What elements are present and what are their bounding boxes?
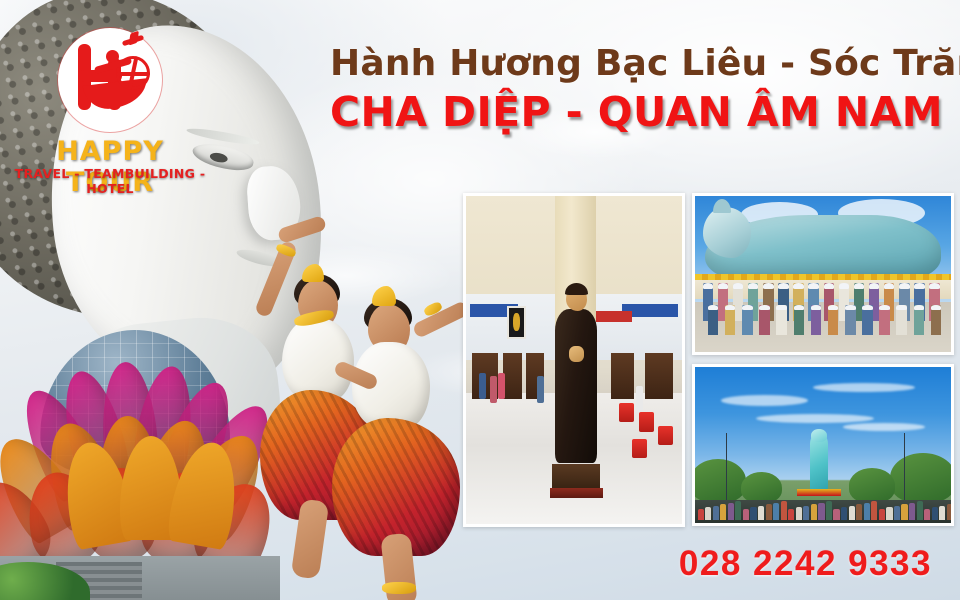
tour-member [725, 305, 735, 335]
pilgrim [788, 509, 794, 520]
tour-member [742, 305, 752, 335]
statue-base [797, 489, 841, 497]
pilgrim [894, 506, 900, 520]
white-cap [703, 283, 713, 289]
tour-member [862, 305, 872, 335]
pilgrim [720, 504, 726, 520]
lamp-post [726, 433, 727, 502]
tour-member [879, 305, 889, 335]
happy-tour-logo[interactable]: HAPPY TOUR TRAVEL - TEAMBUILDING - HOTEL [12, 22, 208, 192]
white-cap [718, 283, 728, 289]
white-cap [879, 305, 889, 310]
framed-picture [507, 306, 526, 339]
pilgrim [766, 504, 772, 520]
white-cap [914, 305, 924, 310]
pilgrim [826, 501, 832, 520]
white-cap [862, 305, 872, 310]
visitor [636, 386, 643, 412]
white-cap [748, 283, 758, 289]
tour-member [794, 305, 804, 335]
logo-tagline: TRAVEL - TEAMBUILDING - HOTEL [12, 166, 208, 196]
pilgrim [909, 503, 915, 520]
pilgrim [886, 507, 892, 519]
gold-ornament-row [695, 274, 951, 280]
cabinet [611, 353, 635, 399]
dancer-crown [372, 286, 396, 306]
quan-am-statue-photo [692, 364, 954, 526]
cloud-wisp [756, 414, 874, 423]
pilgrim [781, 501, 787, 520]
headline-line-1: Hành Hương Bạc Liêu - Sóc Trăng [330, 44, 956, 84]
pilgrim [750, 507, 756, 519]
tour-member [896, 305, 906, 335]
statue-plinth [550, 488, 603, 498]
pilgrim [818, 503, 824, 520]
white-cap [778, 283, 788, 289]
apsara-dancers-image [250, 250, 490, 600]
pilgrim [864, 503, 870, 520]
tour-member [811, 305, 821, 335]
tour-member [776, 305, 786, 335]
pilgrim [939, 506, 945, 520]
pilgrim [879, 509, 885, 520]
tree [890, 453, 954, 503]
tree [849, 468, 895, 502]
white-cap [845, 305, 855, 310]
white-cap [854, 283, 864, 289]
white-cap [884, 283, 894, 289]
tour-member [759, 305, 769, 335]
white-cap [828, 305, 838, 310]
white-cap [708, 305, 718, 310]
headline-block: Hành Hương Bạc Liêu - Sóc Trăng CHA DIỆP… [330, 44, 956, 135]
visitor [498, 373, 505, 399]
priest-hands [569, 346, 584, 362]
white-cap [914, 283, 924, 289]
dancer-right [328, 286, 478, 600]
pilgrim [841, 507, 847, 519]
pilgrim [796, 507, 802, 519]
pilgrim [871, 501, 877, 520]
pilgrim [856, 504, 862, 520]
white-cap [742, 305, 752, 310]
lamp-post [904, 433, 905, 502]
red-stool [619, 403, 634, 423]
tour-member [708, 305, 718, 335]
white-cap [808, 283, 818, 289]
tree [692, 459, 746, 503]
cloud-wisp [813, 383, 915, 392]
priest-statue [552, 285, 600, 488]
pilgrim [773, 503, 779, 520]
red-stool [658, 426, 673, 446]
white-cap [759, 305, 769, 310]
quan-am-statue-head [811, 429, 826, 441]
white-cap [763, 283, 773, 289]
pilgrim [947, 504, 953, 520]
white-cap [733, 283, 743, 289]
pilgrim [924, 509, 930, 520]
white-cap [931, 305, 941, 310]
white-cap [899, 283, 909, 289]
pilgrim [901, 504, 907, 520]
visitor [479, 373, 486, 399]
cabinet [645, 353, 673, 399]
tree [741, 472, 782, 503]
dancer-anklet [382, 582, 416, 594]
pilgrim [849, 506, 855, 520]
white-cap [725, 305, 735, 310]
statue-pedestal [552, 464, 600, 488]
tour-member [828, 305, 838, 335]
pilgrim [917, 501, 923, 520]
pilgrim [743, 509, 749, 520]
pilgrim [803, 506, 809, 520]
pilgrim [713, 506, 719, 520]
priest-cassock [555, 309, 597, 464]
airplane-icon [122, 35, 144, 47]
pilgrim [698, 509, 704, 520]
cloud-wisp [843, 423, 925, 431]
visitor [537, 376, 544, 402]
pilgrim [811, 504, 817, 520]
tour-member [914, 305, 924, 335]
visitor [490, 376, 497, 402]
tour-member [845, 305, 855, 335]
white-cap [776, 305, 786, 310]
white-cap [824, 283, 834, 289]
dancer-crown [302, 264, 324, 282]
priest-hair [565, 283, 588, 295]
headline-line-2: CHA DIỆP - QUAN ÂM NAM HẢI [330, 90, 956, 135]
white-cap [793, 283, 803, 289]
white-cap [896, 305, 906, 310]
white-cap [929, 283, 939, 289]
priest-statue-photo [463, 193, 685, 527]
travel-banner: HAPPY TOUR TRAVEL - TEAMBUILDING - HOTEL… [0, 0, 960, 600]
cabinet [503, 353, 522, 399]
logo-badge [58, 28, 162, 132]
pilgrim [705, 507, 711, 519]
white-cap [794, 305, 804, 310]
tour-group-photo [692, 193, 954, 355]
white-cap [811, 305, 821, 310]
tour-member [931, 305, 941, 335]
white-cap [869, 283, 879, 289]
red-stool [639, 412, 654, 432]
pilgrim [833, 509, 839, 520]
pilgrim [932, 507, 938, 519]
contact-phone-number[interactable]: 028 2242 9333 [679, 544, 932, 584]
pilgrim [758, 506, 764, 520]
cloud-wisp [721, 395, 808, 406]
white-cap [839, 283, 849, 289]
pilgrim [728, 503, 734, 520]
pilgrim [735, 501, 741, 520]
red-stool [632, 439, 647, 459]
